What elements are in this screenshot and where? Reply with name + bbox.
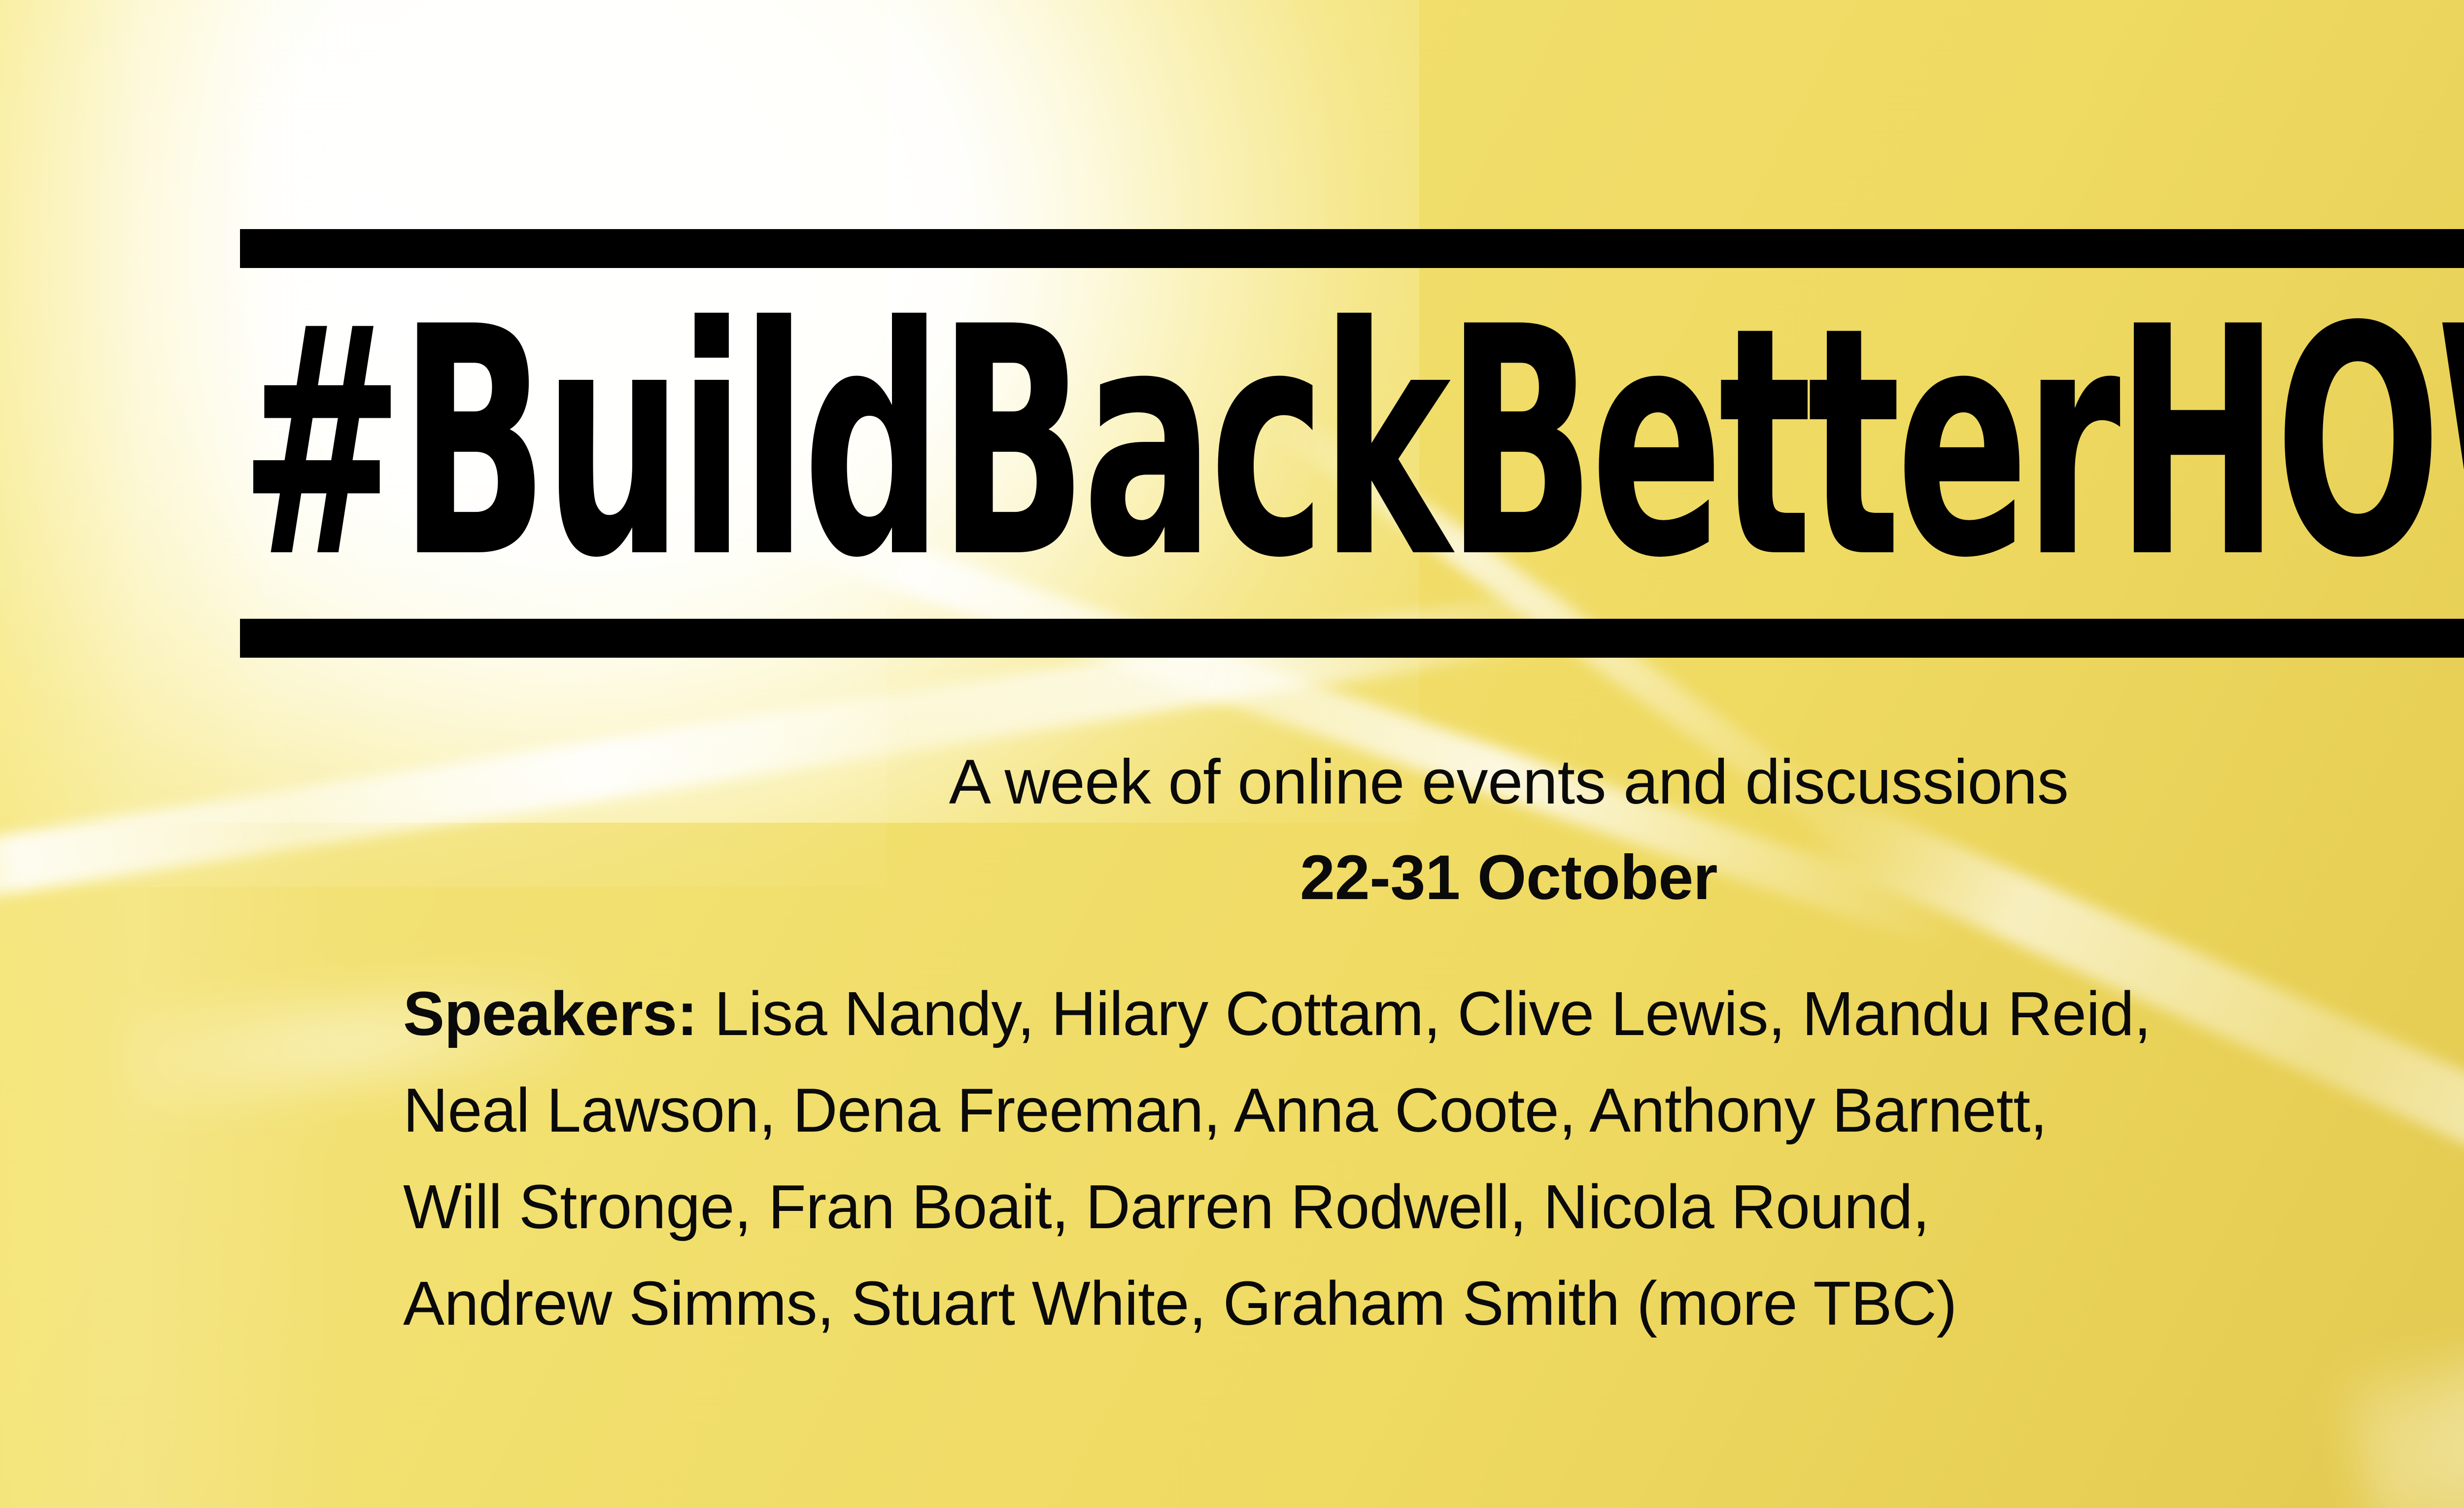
event-banner: #BuildBackBetterHOW? A week of online ev… xyxy=(0,0,2464,1508)
speakers-block: Speakers: Lisa Nandy, Hilary Cottam, Cli… xyxy=(403,966,2464,1352)
speakers-names-line-2: Neal Lawson, Dena Freeman, Anna Coote, A… xyxy=(403,1062,2464,1159)
speakers-names-line-4: Andrew Simms, Stuart White, Graham Smith… xyxy=(403,1255,2464,1352)
speakers-line: Speakers: Lisa Nandy, Hilary Cottam, Cli… xyxy=(403,966,2464,1062)
event-dates: 22-31 October xyxy=(0,840,2464,915)
headline-lockup: #BuildBackBetterHOW? xyxy=(240,229,2464,658)
speakers-names-line-3: Will Stronge, Fran Boait, Darren Rodwell… xyxy=(403,1159,2464,1255)
speakers-names-line-1: Lisa Nandy, Hilary Cottam, Clive Lewis, … xyxy=(697,979,2151,1048)
subtitle-block: A week of online events and discussions … xyxy=(0,745,2464,915)
page-title: #BuildBackBetterHOW? xyxy=(240,268,1975,619)
event-description: A week of online events and discussions xyxy=(0,745,2464,820)
speakers-label: Speakers: xyxy=(403,979,697,1048)
